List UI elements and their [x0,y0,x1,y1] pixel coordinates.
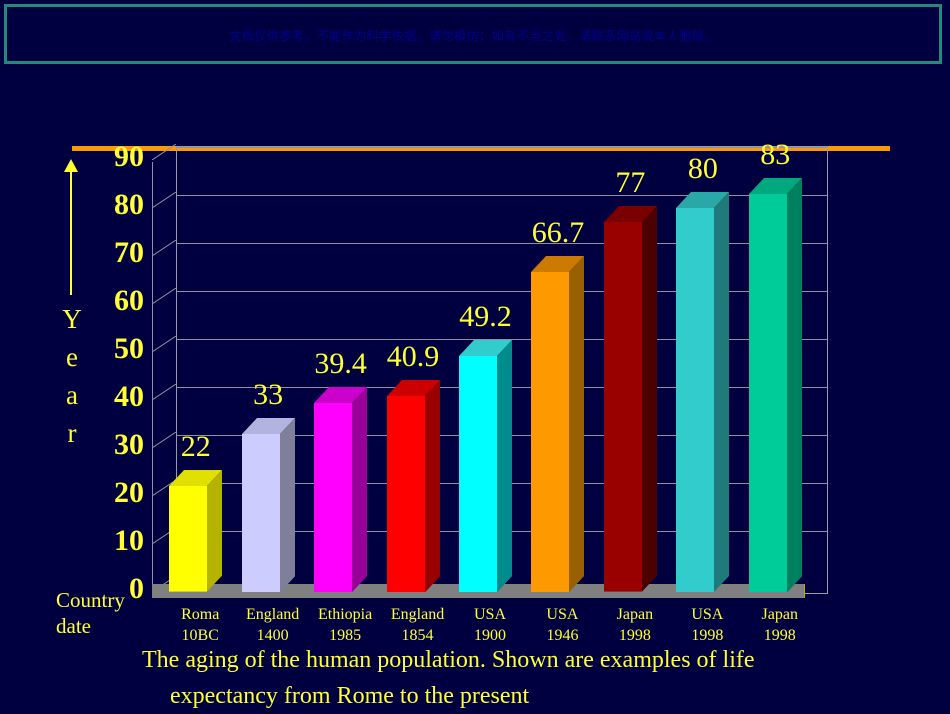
bar-3d-shape [749,178,802,592]
y-axis-title: Year [56,300,88,452]
caption-line-2: expectancy from Rome to the present [170,678,842,714]
y-axis-tick-label: 80 [84,190,144,220]
y-axis-tick-label: 40 [84,382,144,412]
bar-3d-shape [387,380,440,592]
y-axis-tick-label: 90 [84,142,144,172]
gridline-depth-connector [152,240,176,256]
bar [169,470,222,592]
x-axis-category-label: Japan1998 [725,604,835,646]
gridline-depth-connector [152,288,176,304]
bar-3d-shape [604,206,657,592]
y-axis-tick-label: 20 [84,478,144,508]
bar [387,380,440,592]
gridline [177,291,827,292]
gridline-depth-connector [152,192,176,208]
bar-value-label: 49.2 [431,302,541,332]
y-axis-tick-label: 50 [84,334,144,364]
y-axis-tick-label: 60 [84,286,144,316]
y-axis-title-letter: e [56,338,88,376]
bar-3d-shape [676,192,729,592]
bar-value-label: 66.7 [503,218,613,248]
caption-line-1: The aging of the human population. Shown… [142,647,755,673]
bar [676,192,729,592]
bar-value-label: 83 [720,140,830,170]
chart-caption: The aging of the human population. Shown… [142,642,842,714]
y-axis-arrow-icon [70,170,72,295]
x-axis-title-line1: Country [56,587,156,613]
chart-area: 0102030405060708090 Year Country date 22… [0,0,950,713]
bar [604,206,657,592]
y-axis-title-letter: Y [56,300,88,338]
x-axis-title: Country date [56,587,156,639]
bar [459,340,512,592]
gridline [177,195,827,196]
category-country: Japan [725,604,835,625]
y-axis-title-letter: a [56,376,88,414]
bar-value-label: 40.9 [358,342,468,372]
y-axis-tick-label: 30 [84,430,144,460]
gridline-depth-connector [152,144,176,160]
x-axis-title-line2: date [56,613,156,639]
gridline-depth-connector [152,336,176,352]
y-axis-title-letter: r [56,414,88,452]
bar-3d-shape [314,387,367,592]
bar-value-label: 22 [141,432,251,462]
bar-value-label: 33 [213,380,323,410]
y-axis-tick-label: 10 [84,526,144,556]
bar [749,178,802,592]
bar-3d-shape [459,340,512,592]
y-axis-tick-label: 70 [84,238,144,268]
bar [314,387,367,592]
gridline-depth-connector [152,384,176,400]
slide-background: 文档仅供参考，不能作为科学依据，请勿模仿；如有不当之处，请联系网站或本人删除。 … [0,0,950,713]
bar-3d-shape [169,470,222,592]
